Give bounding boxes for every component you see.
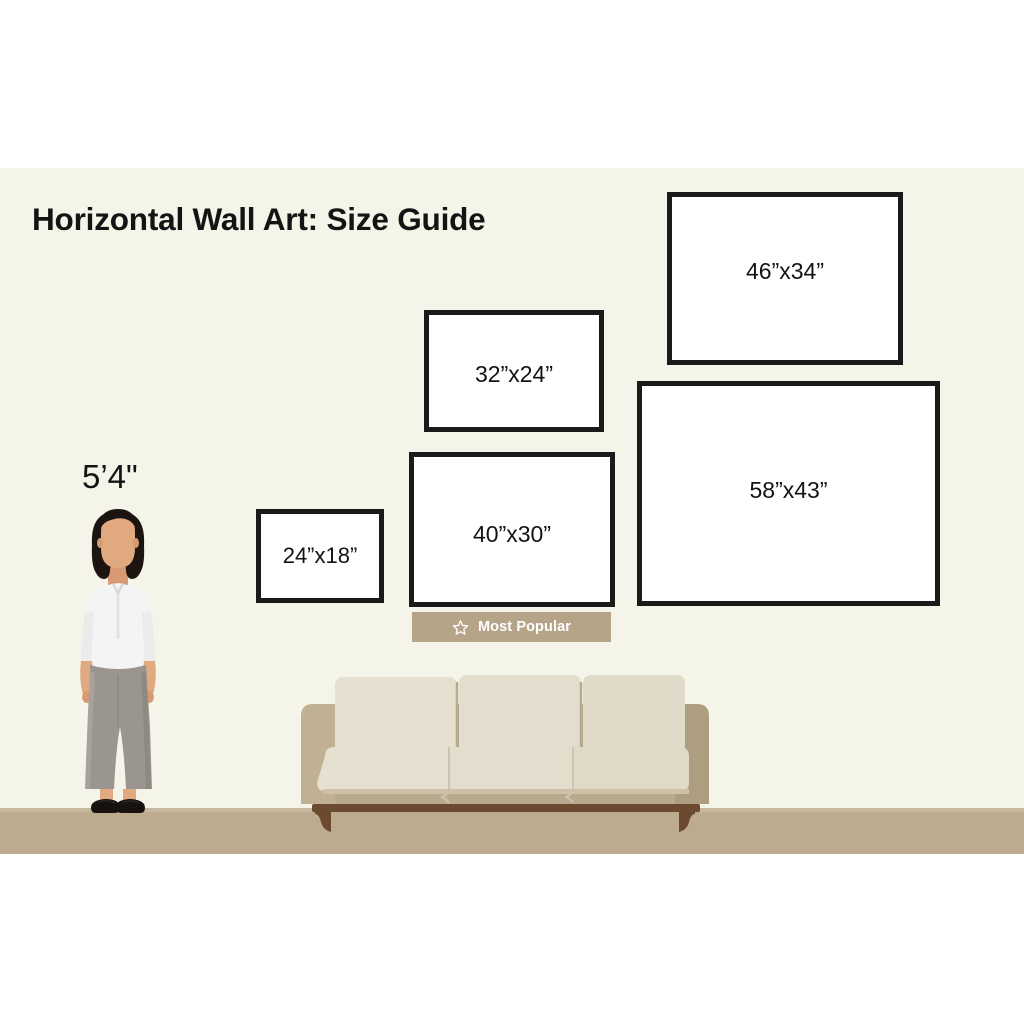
frame-24x18[interactable]: 24”x18” xyxy=(256,509,384,603)
size-guide-canvas: Horizontal Wall Art: Size Guide 5’4" xyxy=(0,0,1024,1024)
most-popular-label: Most Popular xyxy=(478,619,571,635)
sofa-figure xyxy=(279,664,731,846)
frame-46x34[interactable]: 46”x34” xyxy=(667,192,903,365)
person-figure xyxy=(60,505,176,825)
frame-label-46x34: 46”x34” xyxy=(746,260,824,283)
page-title: Horizontal Wall Art: Size Guide xyxy=(32,201,486,238)
frame-label-32x24: 32”x24” xyxy=(475,363,553,386)
frame-label-58x43: 58”x43” xyxy=(750,479,828,502)
most-popular-badge: Most Popular xyxy=(412,612,611,642)
frame-label-40x30: 40”x30” xyxy=(473,523,551,546)
frame-40x30[interactable]: 40”x30” xyxy=(409,452,615,607)
frame-58x43[interactable]: 58”x43” xyxy=(637,381,940,606)
frame-label-24x18: 24”x18” xyxy=(283,545,358,567)
height-reference-label: 5’4" xyxy=(82,458,138,496)
frame-32x24[interactable]: 32”x24” xyxy=(424,310,604,432)
star-icon xyxy=(452,619,469,636)
